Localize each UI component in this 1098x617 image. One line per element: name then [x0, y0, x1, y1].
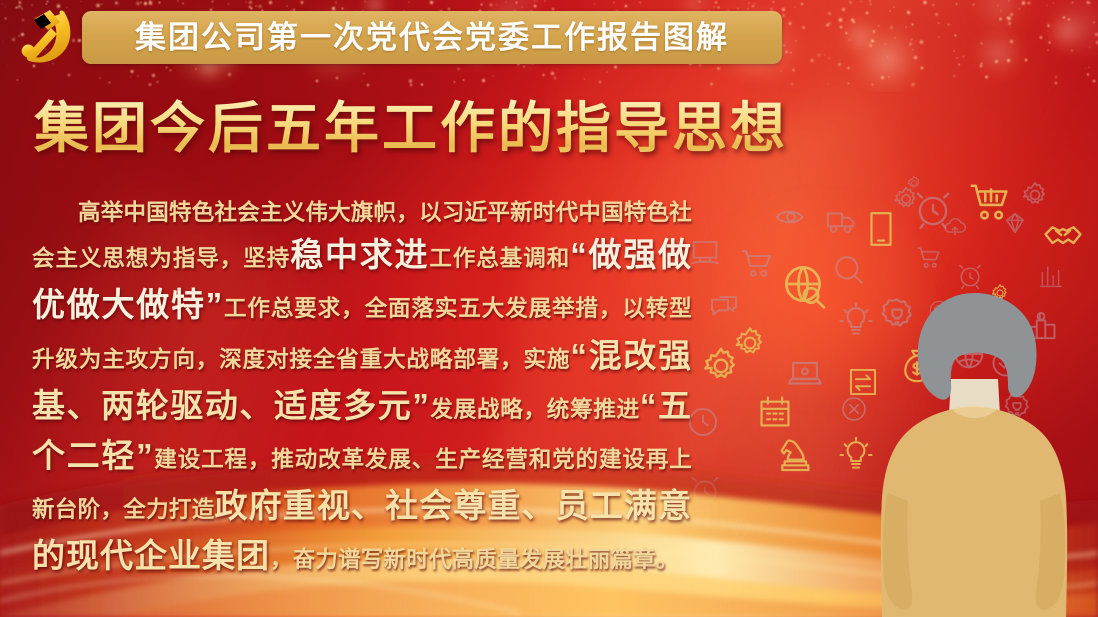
- sparkle-dot: [366, 83, 370, 87]
- header-bar: 集团公司第一次党代会党委工作报告图解: [0, 0, 1098, 78]
- sparkle-dot: [532, 95, 535, 98]
- laptop-icon: [1020, 475, 1056, 511]
- sparkle-dot: [1054, 81, 1058, 85]
- sparkle-dot: [462, 79, 464, 81]
- sparkle-dot: [832, 117, 834, 119]
- sparkle-dot: [62, 94, 64, 96]
- sparkle-dot: [785, 158, 790, 163]
- sparkle-dot: [898, 201, 901, 204]
- sparkle-dot: [91, 144, 95, 148]
- sparkle-dot: [481, 78, 486, 83]
- sparkle-dot: [821, 218, 825, 222]
- sparkle-dot: [16, 79, 19, 82]
- report-title-text: 集团公司第一次党代会党委工作报告图解: [135, 22, 729, 53]
- sparkle-dot: [156, 80, 159, 83]
- sparkle-dot: [420, 83, 423, 86]
- report-title-badge: 集团公司第一次党代会党委工作报告图解: [82, 11, 782, 64]
- sparkle-dot: [590, 120, 592, 122]
- guiding-ideology-paragraph: 高举中国特色社会主义伟大旗帜，以习近平新时代中国特色社会主义思想为指导，坚持稳中…: [32, 196, 692, 581]
- sparkle-dot: [726, 215, 729, 218]
- sparkle-dot: [302, 187, 305, 190]
- globe-icon: [952, 337, 986, 371]
- location-pin-icon: [724, 515, 758, 549]
- sparkle-dot: [871, 83, 874, 86]
- sparkle-dot: [648, 202, 652, 206]
- sparkle-dot: [488, 184, 492, 188]
- sparkle-dot: [949, 202, 953, 206]
- sparkle-dot: [801, 101, 805, 105]
- alarm-clock-icon: [688, 475, 722, 509]
- gear-icon: [974, 293, 1006, 325]
- sparkle-dot: [258, 229, 261, 232]
- sparkle-dot: [453, 81, 456, 84]
- sparkle-dot: [1013, 102, 1016, 105]
- alarm-clock-icon: [956, 263, 984, 291]
- bar-chart-cart-icon: [968, 180, 1014, 226]
- sparkle-dot: [953, 100, 957, 104]
- sparkle-dot: [108, 81, 111, 84]
- sparkle-dot: [344, 164, 347, 167]
- paragraph-run-emphasis-white: 稳中求进: [290, 236, 429, 273]
- sparkle-dot: [443, 195, 447, 199]
- sparkle-dot: [128, 173, 132, 177]
- sparkle-dot: [723, 135, 727, 139]
- sparkle-dot: [803, 152, 805, 154]
- smartphone-signal-icon: [986, 435, 1024, 473]
- sparkle-dot: [827, 83, 829, 85]
- sparkle-dot: [150, 169, 153, 172]
- sparkle-dot: [910, 82, 915, 87]
- sparkle-dot: [361, 80, 363, 82]
- sparkle-dot: [1022, 132, 1026, 136]
- sparkle-dot: [478, 180, 481, 183]
- sparkle-dot: [315, 79, 319, 83]
- sparkle-dot: [1013, 108, 1015, 110]
- check-circle-icon: [990, 347, 1022, 379]
- gear-icon: [990, 283, 1010, 303]
- sparkle-dot: [834, 124, 836, 126]
- sparkle-dot: [409, 83, 413, 87]
- sparkle-dot: [847, 82, 850, 85]
- close-circle-icon: [998, 307, 1022, 331]
- sparkle-dot: [435, 221, 437, 223]
- sparkle-dot: [371, 91, 374, 94]
- paragraph-run-normal-gold: ，奋力谱写新时代高质量发展壮丽篇章。: [270, 547, 679, 572]
- paragraph-run-normal-gold: 工作总基调和: [429, 246, 570, 271]
- paragraph-run-normal-gold: 发展战略，统筹推进: [430, 397, 640, 422]
- sparkle-dot: [972, 159, 974, 161]
- trophy-badge-icon: [1002, 393, 1032, 423]
- sparkle-dot: [408, 78, 413, 83]
- sparkle-dot: [790, 82, 794, 86]
- slide-canvas: 集团公司第一次党代会党委工作报告图解 集团今后五年工作的指导思想 高举中国特色社…: [0, 0, 1098, 617]
- sparkle-dot: [320, 121, 325, 126]
- diamond-icon: [1002, 210, 1028, 236]
- sparkle-dot: [148, 82, 153, 87]
- sparkle-dot: [584, 78, 585, 79]
- lightbulb-icon: [838, 437, 874, 473]
- podium-icon: [1024, 307, 1058, 341]
- sparkle-dot: [262, 164, 265, 167]
- bar-chart-icon: [1038, 263, 1064, 289]
- sparkle-dot: [407, 176, 409, 178]
- sparkle-dot: [905, 214, 910, 219]
- gear-icon: [1020, 180, 1050, 210]
- calculator-icon: [962, 385, 994, 417]
- sparkle-dot: [1092, 79, 1096, 83]
- sparkle-dot: [552, 196, 555, 199]
- hot-glow-decor: [690, 190, 950, 410]
- money-bag-icon: [966, 477, 996, 507]
- sparkle-dot: [598, 80, 602, 84]
- sparkle-dot: [929, 134, 932, 137]
- page-title: 集团今后五年工作的指导思想: [34, 98, 788, 160]
- handshake-icon: [1042, 215, 1084, 257]
- sparkle-dot: [667, 92, 669, 94]
- sparkle-dot: [709, 82, 713, 86]
- party-hammer-sickle-icon: [10, 8, 78, 66]
- sparkle-dot: [788, 110, 793, 115]
- gear-icon: [906, 175, 922, 191]
- sparkle-dot: [585, 132, 587, 134]
- sparkle-dot: [1, 175, 3, 177]
- chess-knight-icon: [774, 435, 814, 475]
